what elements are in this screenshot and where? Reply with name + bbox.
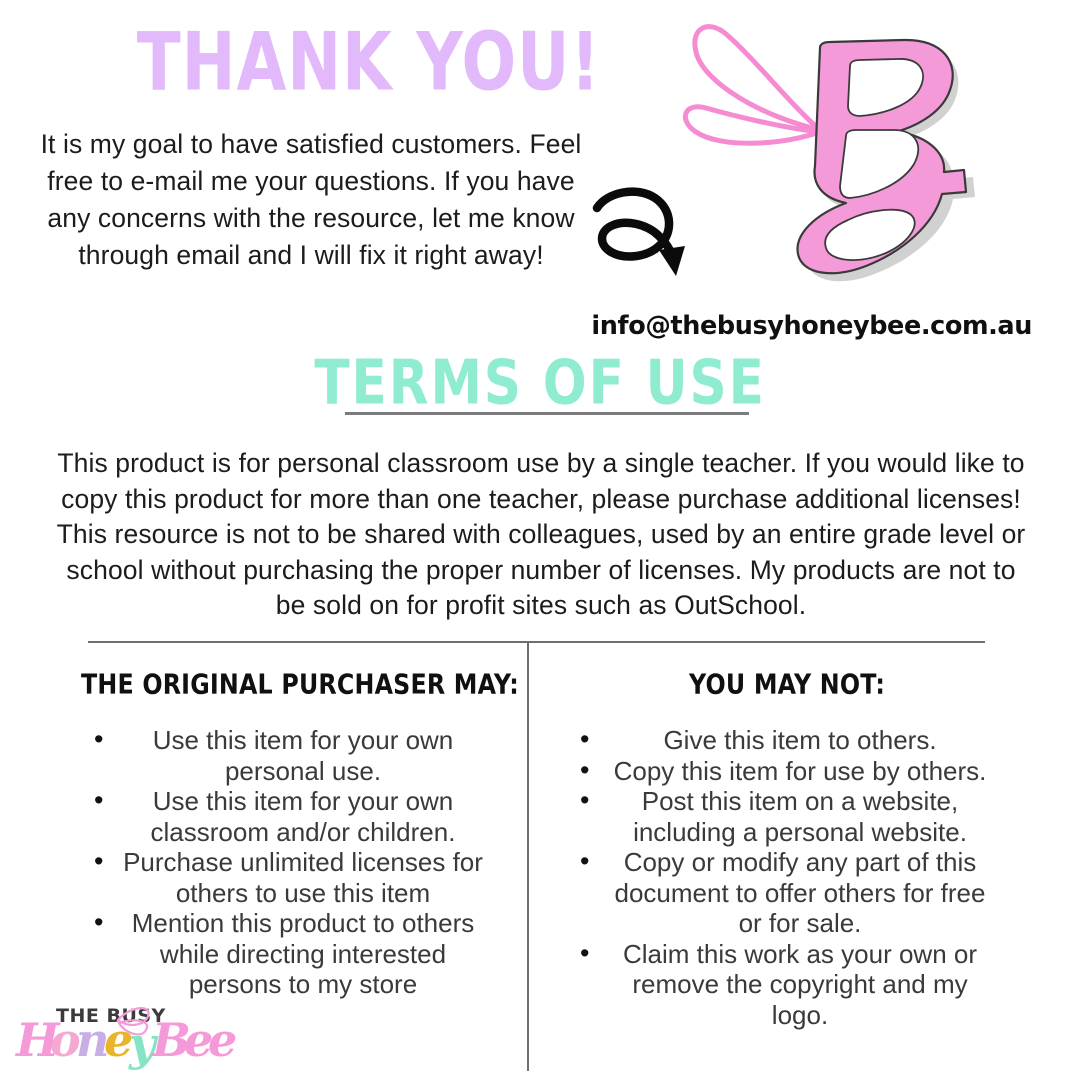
intro-paragraph: It is my goal to have satisfied customer…	[24, 126, 598, 274]
list-item: Use this item for your own classroom and…	[70, 786, 510, 847]
contact-email[interactable]: info@thebusyhoneybee.com.au	[560, 311, 1060, 341]
list-item: Give this item to others.	[552, 725, 1022, 756]
list-item: Use this item for your own personal use.	[70, 725, 510, 786]
list-item: Mention this product to others while dir…	[70, 908, 510, 1000]
list-you-may-not: Give this item to others. Copy this item…	[552, 725, 1022, 1030]
list-item: Copy or modify any part of this document…	[552, 847, 1022, 939]
horizontal-divider	[88, 641, 985, 643]
column-you-may-not: YOU MAY NOT: Give this item to others. C…	[552, 668, 1022, 1030]
logo-main-text: H o n e y B e e	[14, 1013, 237, 1071]
terms-of-use-page: THANK YOU! It is my goal to have satisfi…	[0, 0, 1080, 1080]
column-purchaser-may: THE ORIGINAL PURCHASER MAY: Use this ite…	[70, 668, 510, 1000]
vertical-divider	[527, 641, 529, 1071]
terms-heading-block: TERMS OF USE	[0, 352, 1080, 407]
list-item: Claim this work as your own or remove th…	[552, 939, 1022, 1031]
column-heading-may: THE ORIGINAL PURCHASER MAY:	[81, 668, 499, 700]
busy-honeybee-brand-logo: THE BUSY H o n e y B e e	[12, 998, 242, 1076]
svg-text:e: e	[208, 1013, 237, 1067]
terms-title-underline	[345, 412, 749, 415]
terms-section-title: TERMS OF USE	[314, 352, 765, 414]
column-heading-may-not: YOU MAY NOT:	[564, 668, 1011, 700]
bee-b-logo	[672, 8, 982, 308]
list-purchaser-may: Use this item for your own personal use.…	[70, 725, 510, 1000]
list-item: Post this item on a website, including a…	[552, 786, 1022, 847]
list-item: Copy this item for use by others.	[552, 756, 1022, 787]
list-item: Purchase unlimited licenses for others t…	[70, 847, 510, 908]
page-title: THANK YOU!	[137, 22, 523, 102]
terms-body-paragraph: This product is for personal classroom u…	[52, 446, 1030, 624]
